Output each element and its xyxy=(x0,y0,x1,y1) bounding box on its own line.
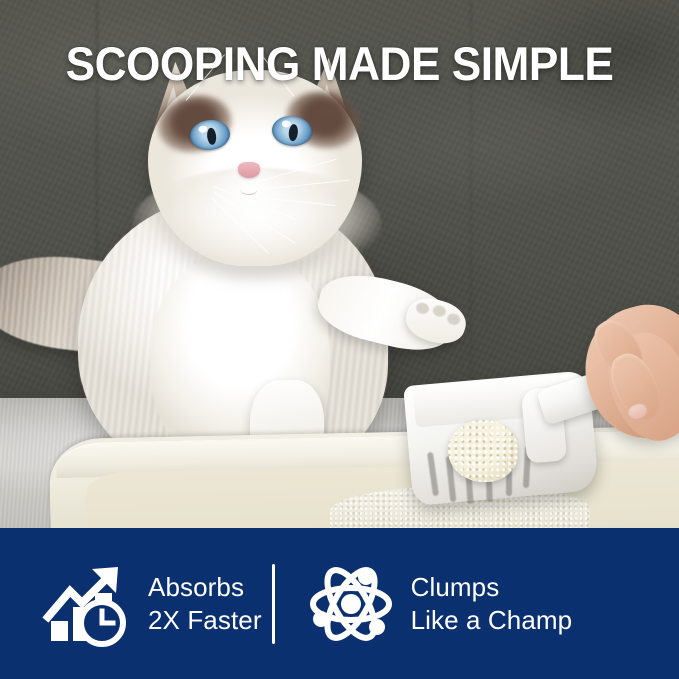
litter-clump xyxy=(448,420,518,482)
feature-absorbs-line2: 2X Faster xyxy=(148,604,262,637)
feature-clumps-line1: Clumps xyxy=(411,571,573,604)
headline: SCOOPING MADE SIMPLE xyxy=(20,40,658,88)
growth-chart-clock-icon xyxy=(42,561,134,647)
product-infographic: SCOOPING MADE SIMPLE xyxy=(0,0,679,679)
feature-absorbs: Absorbs 2X Faster xyxy=(0,528,262,679)
feature-clumps: Clumps Like a Champ xyxy=(281,528,573,679)
feature-absorbs-text: Absorbs 2X Faster xyxy=(148,571,262,637)
banner-divider xyxy=(272,564,275,644)
feature-banner: Absorbs 2X Faster xyxy=(0,528,679,679)
cat-nose xyxy=(238,162,260,178)
feature-clumps-line2: Like a Champ xyxy=(411,604,573,637)
atom-icon xyxy=(305,561,397,647)
feature-clumps-text: Clumps Like a Champ xyxy=(411,571,573,637)
feature-absorbs-line1: Absorbs xyxy=(148,571,262,604)
